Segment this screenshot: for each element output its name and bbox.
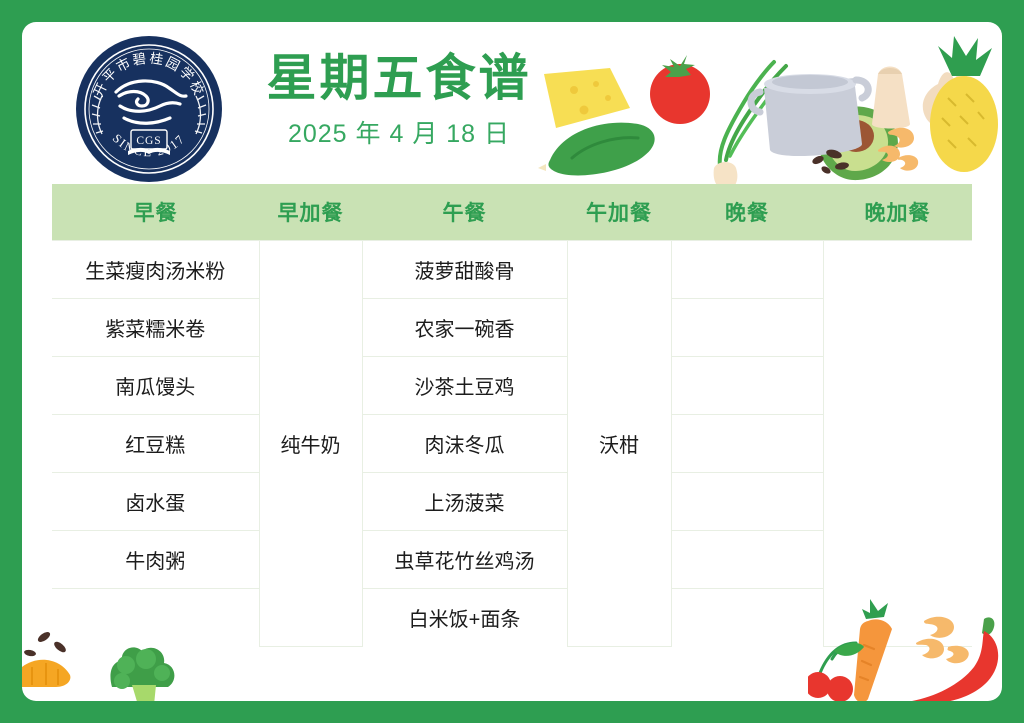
pineapple-icon (930, 36, 998, 172)
lunch-item: 虫草花竹丝鸡汤 (362, 530, 567, 588)
lunch-item: 白米饭+面条 (362, 588, 567, 646)
lunch-item: 上汤菠菜 (362, 472, 567, 530)
column-header-afternoon-snack: 午加餐 (567, 184, 671, 240)
dinner-item (671, 298, 823, 356)
menu-card: 开平市碧桂园学校 SINCE 2017 (22, 22, 1002, 701)
dinner-item (671, 240, 823, 298)
cashew-icon (878, 128, 918, 171)
breakfast-item: 南瓜馒头 (52, 356, 259, 414)
morning-snack-item: 纯牛奶 (259, 240, 362, 646)
evening-snack-item (823, 240, 972, 646)
garlic-icon (923, 72, 982, 130)
afternoon-snack-item: 沃柑 (567, 240, 671, 646)
dinner-item (671, 472, 823, 530)
food-illustrations (522, 32, 1002, 192)
breakfast-item: 卤水蛋 (52, 472, 259, 530)
breakfast-item: 牛肉粥 (52, 530, 259, 588)
logo-monogram: CGS (136, 135, 161, 147)
green-onion-icon (714, 62, 786, 190)
page-title: 星期五食谱 (254, 50, 544, 106)
page-header: 开平市碧桂园学校 SINCE 2017 (22, 22, 1002, 182)
table-header-row: 早餐 早加餐 午餐 午加餐 晚餐 晚加餐 (52, 184, 972, 240)
column-header-morning-snack: 早加餐 (259, 184, 362, 240)
cherry-icon (808, 643, 864, 701)
breakfast-item: 生菜瘦肉汤米粉 (52, 240, 259, 298)
menu-date: 2025 年 4 月 18 日 (254, 114, 544, 150)
breakfast-item: 红豆糕 (52, 414, 259, 472)
dinner-item (671, 588, 823, 646)
lunch-item: 菠萝甜酸骨 (362, 240, 567, 298)
orange-slice-icon (22, 660, 70, 687)
lunch-item: 农家一碗香 (362, 298, 567, 356)
column-header-breakfast: 早餐 (52, 184, 259, 240)
title-block: 星期五食谱 2025 年 4 月 18 日 (254, 50, 544, 150)
tomato-icon (650, 55, 710, 124)
table-row: 生菜瘦肉汤米粉 纯牛奶 菠萝甜酸骨 沃柑 (52, 240, 972, 298)
breakfast-item: 紫菜糯米卷 (52, 298, 259, 356)
dinner-item (671, 414, 823, 472)
cheese-icon (544, 68, 630, 128)
column-header-evening-snack: 晚加餐 (823, 184, 972, 240)
seeds-icon (811, 148, 849, 175)
breakfast-item (52, 588, 259, 646)
avocado-icon (817, 106, 897, 180)
broccoli-icon (110, 647, 174, 701)
school-logo: 开平市碧桂园学校 SINCE 2017 (74, 34, 224, 184)
food-illustrations-right (742, 32, 1002, 202)
dinner-item (671, 356, 823, 414)
lunch-item: 肉沫冬瓜 (362, 414, 567, 472)
lunch-item: 沙茶土豆鸡 (362, 356, 567, 414)
column-header-dinner: 晚餐 (671, 184, 823, 240)
cucumber-icon (538, 123, 655, 176)
dinner-item (671, 530, 823, 588)
pot-icon (751, 74, 868, 156)
salt-shaker-icon (872, 67, 910, 129)
menu-table: 早餐 早加餐 午餐 午加餐 晚餐 晚加餐 生菜瘦肉汤米粉 纯牛奶 菠萝甜酸骨 沃… (52, 184, 972, 647)
column-header-lunch: 午餐 (362, 184, 567, 240)
